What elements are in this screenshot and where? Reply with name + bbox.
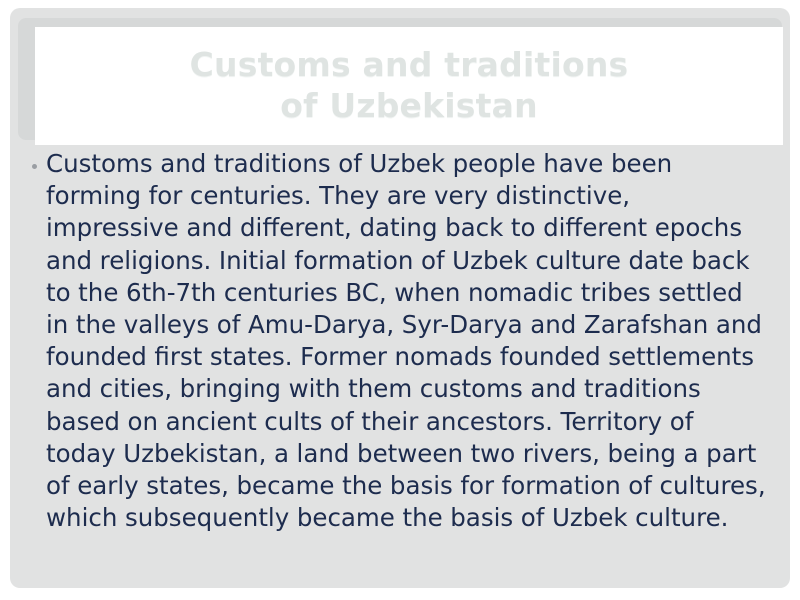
list-item: Customs and traditions of Uzbek people h…	[26, 148, 776, 534]
bullet-dot-icon	[26, 164, 42, 169]
slide-body: Customs and traditions of Uzbek people h…	[10, 140, 790, 588]
presentation-slide: Customs and traditions of Uzbekistan Cus…	[10, 8, 790, 588]
title-frame: Customs and traditions of Uzbekistan	[18, 18, 782, 140]
title-plate: Customs and traditions of Uzbekistan	[35, 27, 783, 145]
slide-title: Customs and traditions of Uzbekistan	[190, 45, 629, 127]
body-paragraph: Customs and traditions of Uzbek people h…	[42, 148, 776, 534]
